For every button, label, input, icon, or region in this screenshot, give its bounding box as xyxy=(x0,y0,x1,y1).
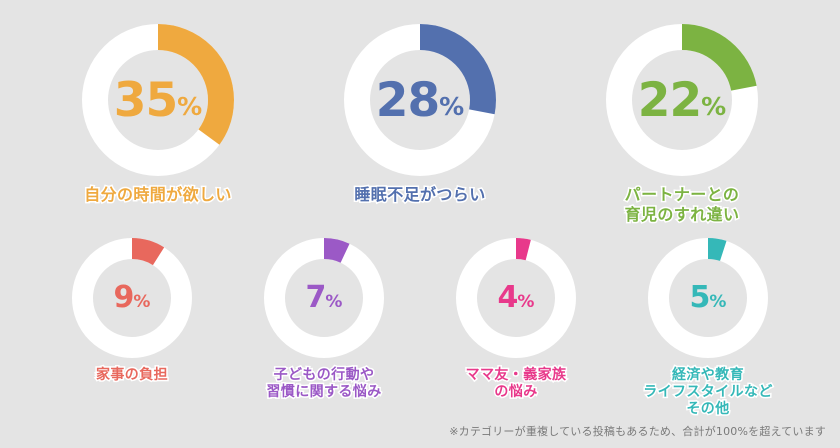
donut-label-line: 育児のすれ違い xyxy=(625,205,740,225)
donut-chart-item: 7%子どもの行動や習慣に関する悩み xyxy=(231,238,417,401)
donut-percent-number: 4 xyxy=(498,283,518,313)
donut-ring: 35% xyxy=(82,24,234,176)
percent-symbol: % xyxy=(517,294,534,311)
donut-label-line: 睡眠不足がつらい xyxy=(354,185,485,205)
donut-ring: 28% xyxy=(344,24,496,176)
donut-chart-item: 22%パートナーとの育児のすれ違い xyxy=(562,24,802,224)
donut-category-label: 家事の負担 xyxy=(96,367,168,384)
percent-symbol: % xyxy=(439,94,464,119)
donut-row-bottom: 9%家事の負担7%子どもの行動や習慣に関する悩み4%ママ友・義家族の悩み5%経済… xyxy=(0,224,840,418)
donut-value-text: 28% xyxy=(344,24,496,176)
donut-label-line: ライフスタイルなど xyxy=(643,384,773,401)
footnote-text: ※カテゴリーが重複している投稿もあるため、合計が100%を超えています xyxy=(449,423,826,439)
donut-ring: 4% xyxy=(456,238,576,358)
donut-label-line: 自分の時間が欲しい xyxy=(84,185,232,205)
percent-symbol: % xyxy=(133,294,150,311)
donut-value-text: 7% xyxy=(264,238,384,358)
donut-category-label: パートナーとの育児のすれ違い xyxy=(625,185,740,224)
donut-value-text: 4% xyxy=(456,238,576,358)
percent-symbol: % xyxy=(701,94,726,119)
donut-percent-number: 9 xyxy=(114,283,134,313)
donut-category-label: 自分の時間が欲しい xyxy=(84,185,232,205)
donut-label-line: 子どもの行動や xyxy=(266,367,381,384)
donut-ring: 5% xyxy=(648,238,768,358)
donut-chart-item: 35%自分の時間が欲しい xyxy=(38,24,278,205)
donut-category-label: 経済や教育ライフスタイルなどその他 xyxy=(643,367,773,418)
donut-chart-item: 5%経済や教育ライフスタイルなどその他 xyxy=(615,238,801,418)
donut-ring: 7% xyxy=(264,238,384,358)
donut-ring: 9% xyxy=(72,238,192,358)
donut-value-text: 9% xyxy=(72,238,192,358)
donut-category-label: 子どもの行動や習慣に関する悩み xyxy=(266,367,381,401)
donut-label-line: ママ友・義家族 xyxy=(466,367,567,384)
donut-value-text: 5% xyxy=(648,238,768,358)
donut-ring: 22% xyxy=(606,24,758,176)
percent-symbol: % xyxy=(325,294,342,311)
donut-chart-item: 9%家事の負担 xyxy=(39,238,225,384)
donut-row-top: 35%自分の時間が欲しい28%睡眠不足がつらい22%パートナーとの育児のすれ違い xyxy=(0,0,840,224)
donut-percent-number: 35 xyxy=(114,77,177,124)
donut-chart-item: 4%ママ友・義家族の悩み xyxy=(423,238,609,401)
donut-chart-item: 28%睡眠不足がつらい xyxy=(300,24,540,205)
infographic-canvas: 35%自分の時間が欲しい28%睡眠不足がつらい22%パートナーとの育児のすれ違い… xyxy=(0,0,840,448)
percent-symbol: % xyxy=(177,94,202,119)
donut-percent-number: 22 xyxy=(638,77,701,124)
percent-symbol: % xyxy=(709,294,726,311)
donut-label-line: 家事の負担 xyxy=(96,367,168,384)
donut-label-line: 習慣に関する悩み xyxy=(266,384,381,401)
donut-value-text: 22% xyxy=(606,24,758,176)
donut-value-text: 35% xyxy=(82,24,234,176)
donut-label-line: パートナーとの xyxy=(625,185,740,205)
donut-label-line: 経済や教育 xyxy=(643,367,773,384)
donut-label-line: その他 xyxy=(643,401,773,418)
donut-label-line: の悩み xyxy=(466,384,567,401)
donut-category-label: 睡眠不足がつらい xyxy=(354,185,485,205)
donut-percent-number: 5 xyxy=(690,283,710,313)
donut-percent-number: 7 xyxy=(306,283,326,313)
donut-category-label: ママ友・義家族の悩み xyxy=(466,367,567,401)
donut-percent-number: 28 xyxy=(376,77,439,124)
